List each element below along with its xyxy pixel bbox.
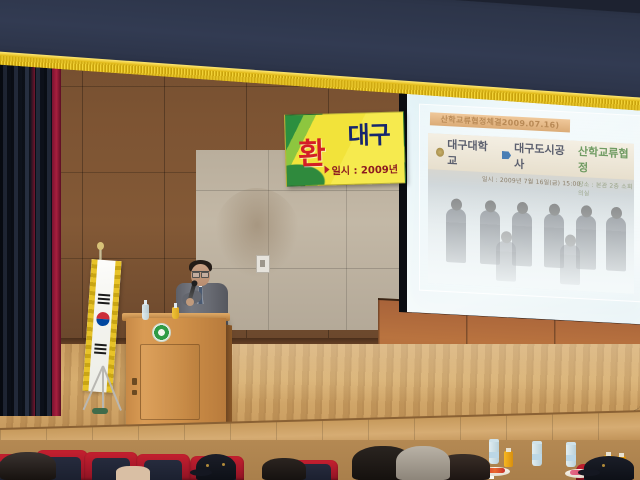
juice-bottle — [504, 451, 513, 467]
flag-base-foot — [92, 408, 108, 414]
audience-head-grey — [396, 446, 450, 480]
photo-ceremony-banner: 대구대학교 대구도시공사 산학교류협정 — [428, 133, 634, 180]
water-bottle — [566, 442, 576, 467]
water-bottle — [142, 304, 149, 320]
photo-banner-org-green: 산학교류협정 — [578, 143, 634, 178]
flag-trigram-bar — [94, 352, 106, 355]
banner-date-line: 일시 : 2009년 — [331, 161, 398, 178]
podium-switch[interactable] — [132, 378, 137, 385]
photo-washout-haze — [428, 178, 634, 294]
podium — [126, 318, 226, 426]
curtain-inner-edge — [30, 24, 35, 416]
slide-photo-caption: 산학교류협정체결2009.07.16) — [430, 112, 570, 132]
yellow-drink-bottle — [172, 307, 179, 319]
slide-photo: 대구대학교 대구도시공사 산학교류협정 일시 : 2009년 7월 16일(금)… — [428, 133, 634, 294]
power-outlet-plate — [256, 255, 270, 273]
institution-emblem-icon — [152, 323, 171, 342]
audience-area — [0, 440, 640, 480]
university-emblem-icon — [436, 147, 444, 156]
podium-front-panel — [140, 344, 200, 420]
flag-trigram-bar — [94, 348, 106, 351]
podium-switch[interactable] — [132, 390, 137, 395]
flag-trigram-bar — [98, 294, 110, 297]
floor-reflection — [180, 344, 640, 404]
audience-cap — [196, 454, 236, 480]
korean-national-flag — [78, 248, 126, 418]
photo-banner-org-left: 대구대학교 — [447, 136, 494, 170]
flag-trigram-bar — [98, 298, 110, 301]
speaker-hand — [186, 298, 194, 306]
auditorium-photo: 산학교류협정체결 산학교류협정체결2009.07.16) 대구대학교 대구도시공… — [0, 0, 640, 480]
audience-cap — [584, 456, 634, 480]
photo-banner-org-right: 대구도시공사 — [514, 140, 570, 175]
curtain-red-edge — [52, 24, 61, 416]
audience-head — [116, 466, 150, 480]
flag-trigram-bar — [98, 302, 110, 305]
welcome-banner: 환 대구 일시 : 2009년 — [284, 111, 406, 186]
audience-head — [262, 458, 306, 480]
audience-head — [0, 452, 56, 480]
banner-welcome-char: 환 — [297, 129, 326, 174]
flag-taeguk-blue — [96, 319, 109, 327]
water-bottle — [489, 439, 499, 464]
slide-body: 산학교류협정체결2009.07.16) 대구대학교 대구도시공사 산학교류협정 … — [419, 104, 640, 303]
corporation-logo-icon — [502, 151, 511, 159]
water-bottle — [532, 441, 542, 466]
eyeglasses-icon — [192, 271, 209, 276]
banner-city-char: 대구 — [347, 115, 390, 151]
banner-bullet-icon — [324, 165, 329, 173]
flag-trigram-bar — [95, 344, 107, 347]
